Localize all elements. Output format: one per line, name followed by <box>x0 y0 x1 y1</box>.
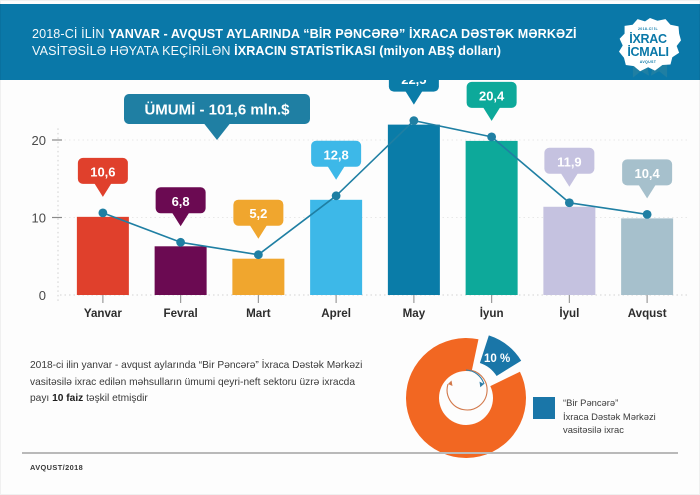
title-bold-1: YANVAR - AVQUST AYLARINDA “BİR PƏNCƏRƏ” … <box>108 27 576 41</box>
value-callout-mart[interactable]: 5,2 <box>233 200 283 239</box>
value-callout-may[interactable]: 22,5 <box>389 80 439 105</box>
value-callout-avqust[interactable]: 10,4 <box>622 159 672 198</box>
badge-text-block: 2018-Cİ İL İXRAC İCMALI AVQUST <box>617 18 679 74</box>
note-text-bold: 10 faiz <box>52 393 83 404</box>
trend-point-yanvar[interactable] <box>98 208 107 217</box>
value-callout-aprel[interactable]: 12,8 <box>311 141 361 180</box>
footer-source: AVQUST/2018 <box>30 463 83 472</box>
note-text-part2: təşkil etmişdir <box>83 393 148 404</box>
trend-point-avqust[interactable] <box>643 210 652 219</box>
page-title-line-1: 2018-Cİ İLİN YANVAR - AVQUST AYLARINDA “… <box>32 26 572 43</box>
bottom-section: 2018-ci ilin yanvar - avqust aylarında “… <box>0 330 700 450</box>
bar-mart[interactable] <box>232 259 284 295</box>
total-banner[interactable]: ÜMUMİ - 101,6 mln.$ <box>124 94 310 140</box>
xtick-label-aprel: Aprel <box>321 307 351 320</box>
callout-tail <box>172 213 189 227</box>
callout-value: 12,8 <box>323 147 348 162</box>
bar-avqust[interactable] <box>621 218 673 295</box>
trend-point-aprel[interactable] <box>332 191 341 200</box>
value-callout-fevral[interactable]: 6,8 <box>156 187 206 226</box>
bar-i̇yun[interactable] <box>466 141 518 295</box>
callout-tail <box>250 225 267 239</box>
inner-arrow-orange-icon <box>447 370 487 410</box>
donut-legend: “Bir Pəncərə” İxraca Dəstək Mərkəzi vasi… <box>533 396 656 437</box>
trend-point-fevral[interactable] <box>176 238 185 247</box>
bar-may[interactable] <box>388 125 440 295</box>
legend-line-1: “Bir Pəncərə” <box>563 396 656 410</box>
callout-value: 20,4 <box>479 88 505 103</box>
trend-point-i̇yul[interactable] <box>565 198 574 207</box>
xtick-label-yanvar: Yanvar <box>84 307 123 320</box>
legend-line-3: vasitəsilə ixrac <box>563 423 656 437</box>
callout-value: 6,8 <box>172 194 190 209</box>
callout-tail <box>94 183 111 197</box>
total-banner-label: ÜMUMİ - 101,6 mln.$ <box>144 102 290 119</box>
donut-canvas: 10 % <box>398 322 543 467</box>
bar-yanvar[interactable] <box>77 217 129 295</box>
badge-main-line2: İCMALI <box>627 46 668 59</box>
ytick-label-10: 10 <box>32 211 46 226</box>
title-prefix-1: 2018-Cİ İLİN <box>32 27 108 41</box>
badge-micro-top: 2018-Cİ İL <box>638 28 658 32</box>
xtick-label-i̇yul: İyul <box>559 307 579 320</box>
inner-arrow-blue-icon <box>466 370 484 384</box>
summary-note: 2018-ci ilin yanvar - avqust aylarında “… <box>30 358 370 408</box>
trend-point-mart[interactable] <box>254 250 263 259</box>
value-callout-i̇yul[interactable]: 11,9 <box>544 148 594 187</box>
xtick-label-fevral: Fevral <box>164 307 198 320</box>
callout-tail <box>639 185 656 199</box>
bar-aprel[interactable] <box>310 200 362 295</box>
chart-canvas: 01020YanvarFevralMartAprelMayİyunİyulAvq… <box>0 80 700 330</box>
callout-value: 10,4 <box>634 166 660 181</box>
bar-line-chart: 01020YanvarFevralMartAprelMayİyunİyulAvq… <box>0 80 700 330</box>
callout-value: 10,6 <box>90 164 115 179</box>
donut-chart: 10 % <box>398 322 543 467</box>
infographic-page: 2018-Cİ İLİN YANVAR - AVQUST AYLARINDA “… <box>0 0 700 495</box>
total-banner-tail <box>204 124 230 141</box>
callout-tail <box>328 166 345 180</box>
callout-tail <box>405 91 422 105</box>
callout-value: 22,5 <box>401 80 426 87</box>
page-title-line-2: VASİTƏSİLƏ HƏYATA KEÇİRİLƏN İXRACIN STAT… <box>32 43 572 60</box>
xtick-label-i̇yun: İyun <box>480 307 504 320</box>
trend-point-may[interactable] <box>409 116 418 125</box>
footer-divider <box>22 452 678 454</box>
legend-label: “Bir Pəncərə” İxraca Dəstək Mərkəzi vasi… <box>563 396 656 437</box>
callout-value: 11,9 <box>557 154 582 169</box>
callout-value: 5,2 <box>249 206 267 221</box>
value-callout-i̇yun[interactable]: 20,4 <box>467 82 517 121</box>
title-bold-2: İXRACIN STATİSTİKASI (milyon ABŞ dolları… <box>234 44 501 58</box>
trend-point-i̇yun[interactable] <box>487 133 496 142</box>
inner-arrow-orange-head-icon <box>448 381 453 387</box>
xtick-label-avqust: Avqust <box>628 307 667 320</box>
legend-line-2: İxraca Dəstək Mərkəzi <box>563 410 656 424</box>
badge-micro-bottom: AVQUST <box>640 61 657 65</box>
xtick-label-mart: Mart <box>246 307 271 320</box>
ytick-label-20: 20 <box>32 133 46 148</box>
badge-main-line1: İXRAC <box>629 33 666 46</box>
xtick-label-may: May <box>403 307 426 320</box>
donut-percent-label: 10 % <box>484 353 510 365</box>
legend-color-swatch <box>533 397 555 419</box>
callout-tail <box>483 107 500 121</box>
bar-i̇yul[interactable] <box>543 207 595 295</box>
header-band: 2018-Cİ İLİN YANVAR - AVQUST AYLARINDA “… <box>0 4 700 80</box>
ytick-label-0: 0 <box>39 288 46 303</box>
value-callout-yanvar[interactable]: 10,6 <box>78 158 128 197</box>
callout-tail <box>561 173 578 187</box>
title-prefix-2: VASİTƏSİLƏ HƏYATA KEÇİRİLƏN <box>32 44 234 58</box>
bar-fevral[interactable] <box>155 246 207 295</box>
header-title-block: 2018-Cİ İLİN YANVAR - AVQUST AYLARINDA “… <box>32 26 572 60</box>
